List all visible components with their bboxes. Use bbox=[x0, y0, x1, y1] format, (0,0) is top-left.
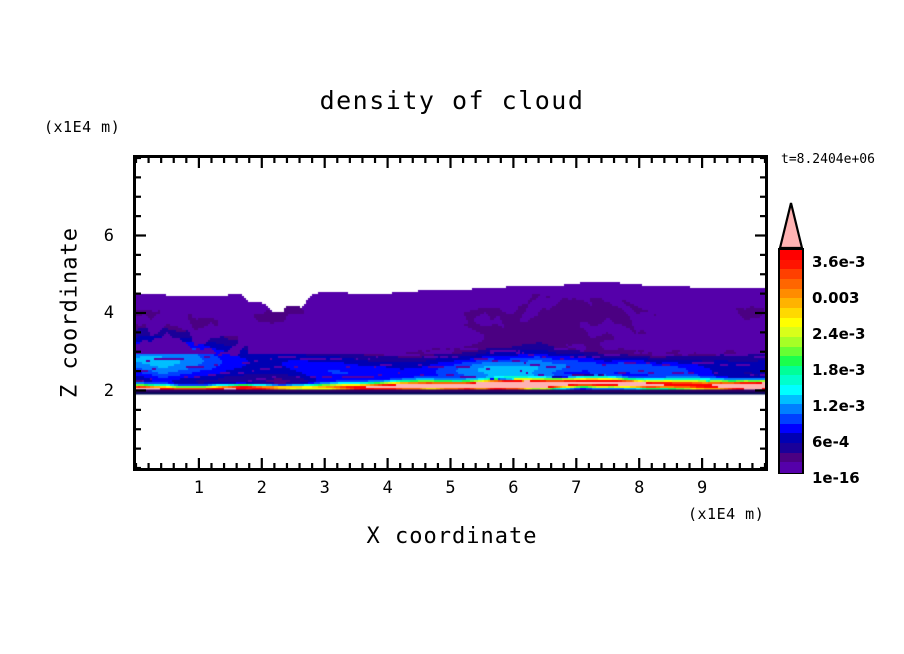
colorbar-bands bbox=[778, 248, 804, 474]
page-title: density of cloud bbox=[0, 86, 904, 115]
x-tick-label: 2 bbox=[247, 478, 277, 498]
x-tick-label: 3 bbox=[310, 478, 340, 498]
x-tick-label: 6 bbox=[498, 478, 528, 498]
plot-area bbox=[133, 155, 768, 471]
colorbar-tick-label: 6e-4 bbox=[812, 433, 849, 451]
colorbar[interactable] bbox=[778, 248, 804, 474]
colorbar-tick-label: 3.6e-3 bbox=[812, 253, 865, 271]
figure-canvas: density of cloud (x1E4 m) t=8.2404e+06 1… bbox=[0, 0, 904, 654]
contour-plot-canvas bbox=[136, 158, 765, 468]
x-axis-title: X coordinate bbox=[0, 524, 904, 549]
y-tick-label: 2 bbox=[86, 381, 114, 401]
y-axis-title: Z coordinate bbox=[58, 213, 83, 413]
colorbar-max-arrow-cap bbox=[778, 202, 804, 250]
timestamp-label: t=8.2404e+06 bbox=[781, 152, 875, 167]
x-tick-label: 9 bbox=[687, 478, 717, 498]
x-tick-label: 4 bbox=[373, 478, 403, 498]
x-tick-label: 7 bbox=[561, 478, 591, 498]
x-tick-label: 8 bbox=[624, 478, 654, 498]
x-axis-unit-label: (x1E4 m) bbox=[688, 505, 764, 523]
y-tick-label: 4 bbox=[86, 303, 114, 323]
colorbar-tick-label: 1.2e-3 bbox=[812, 397, 865, 415]
colorbar-tick-label: 1e-16 bbox=[812, 469, 860, 487]
colorbar-tick-label: 0.003 bbox=[812, 289, 859, 307]
y-axis-unit-label: (x1E4 m) bbox=[44, 118, 120, 136]
x-tick-label: 1 bbox=[184, 478, 214, 498]
colorbar-tick-label: 2.4e-3 bbox=[812, 325, 865, 343]
colorbar-tick-label: 1.8e-3 bbox=[812, 361, 865, 379]
x-tick-label: 5 bbox=[436, 478, 466, 498]
colorbar-band bbox=[780, 462, 802, 472]
y-tick-label: 6 bbox=[86, 226, 114, 246]
